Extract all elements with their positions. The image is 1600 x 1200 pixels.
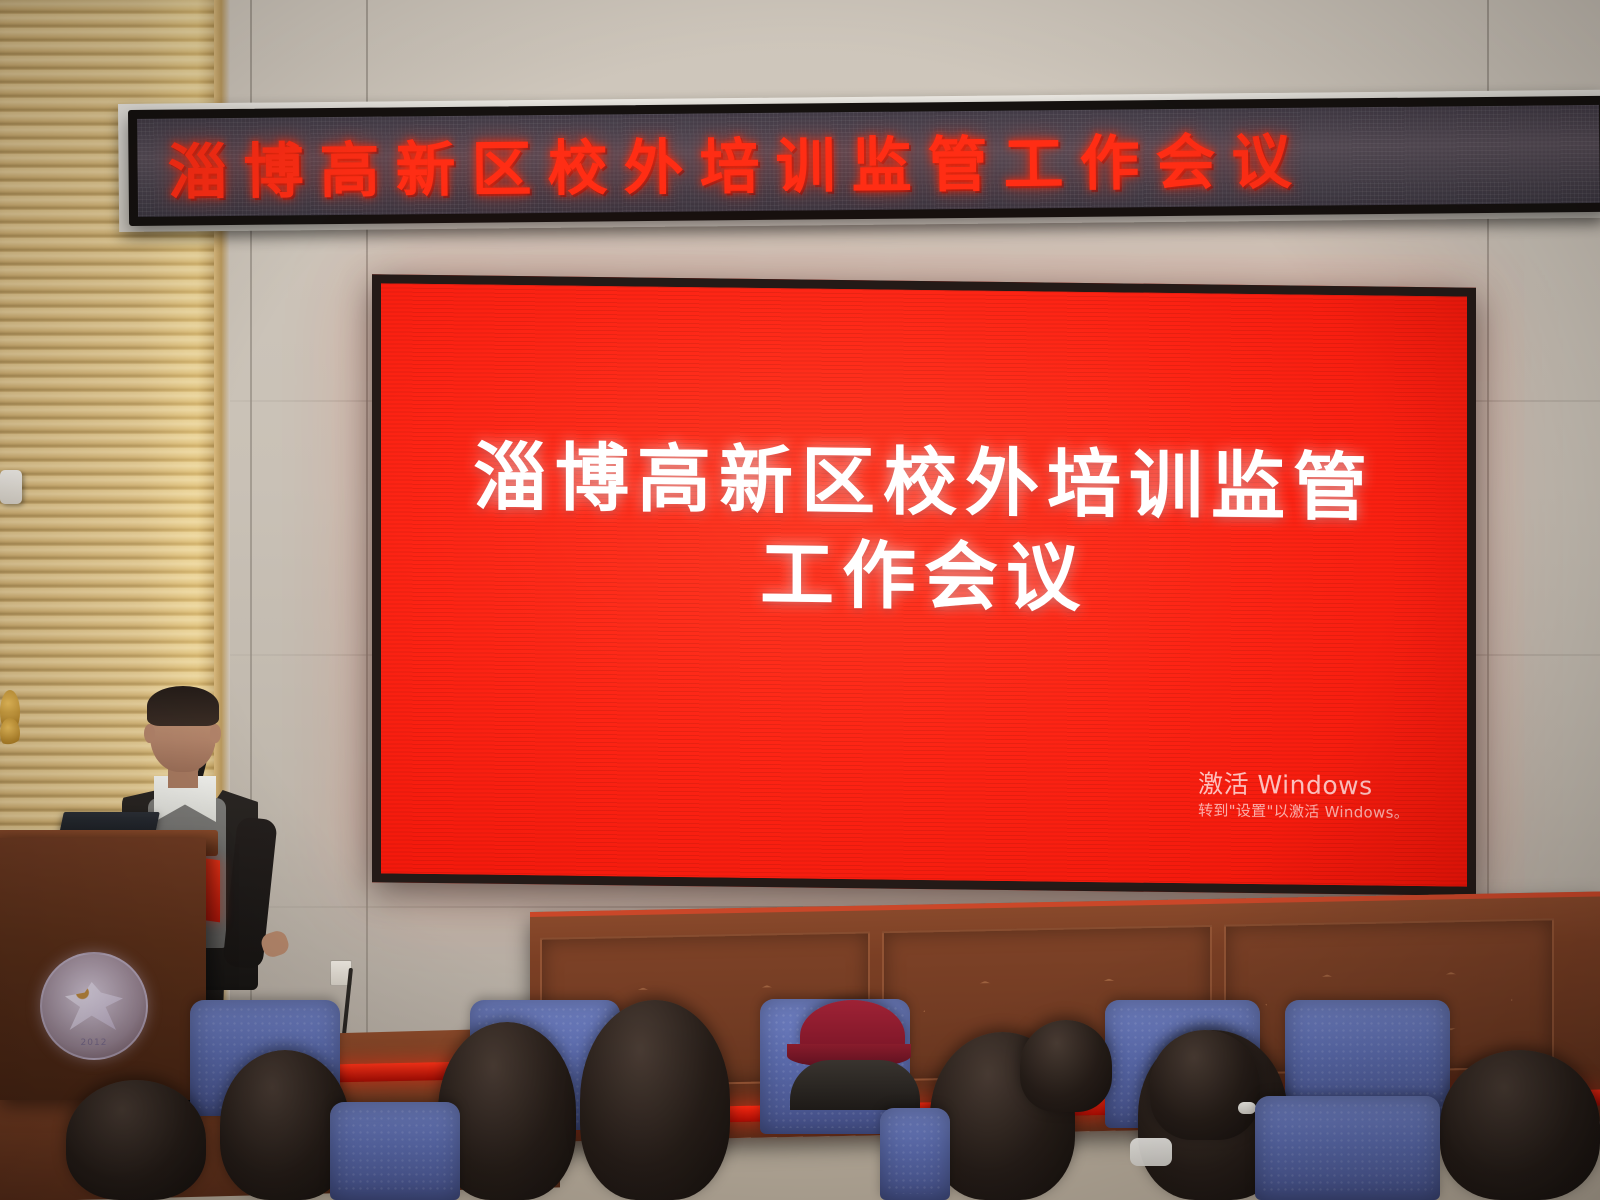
crest-dove-icon — [65, 982, 123, 1030]
hair-tie-icon — [1238, 1102, 1256, 1114]
audience-chair — [330, 1102, 460, 1200]
presenter-ear — [210, 724, 221, 743]
gold-ornament-icon — [0, 718, 20, 748]
watermark-line-1: 激活 Windows — [1198, 769, 1409, 802]
led-marquee-icon: 淄博高新区校外培训监管工作会议 — [128, 96, 1600, 226]
presenter-hair — [147, 686, 219, 726]
windows-activation-watermark: 激活 Windows 转到"设置"以激活 Windows。 — [1198, 769, 1409, 824]
led-banner-text: 淄博高新区校外培训监管工作会议 — [167, 110, 1600, 211]
audience-head — [580, 1000, 730, 1200]
audience-head — [1020, 1020, 1112, 1112]
screen-title-line-2: 工作会议 — [381, 522, 1467, 635]
wall-light-fixture-icon — [0, 470, 22, 504]
audience-shoulders — [790, 1060, 920, 1110]
face-mask-icon — [1130, 1138, 1172, 1166]
audience-head — [1150, 1030, 1260, 1140]
audience-chair — [1255, 1096, 1440, 1200]
watermark-line-2: 转到"设置"以激活 Windows。 — [1198, 799, 1409, 824]
screen-title: 淄博高新区校外培训监管 工作会议 — [381, 431, 1467, 634]
crest-year: 2012 — [42, 1038, 146, 1048]
audience-chair — [880, 1108, 950, 1200]
audience-head — [66, 1080, 206, 1200]
main-led-screen: 淄博高新区校外培训监管 工作会议 激活 Windows 转到"设置"以激活 Wi… — [372, 274, 1476, 895]
screen-title-line-1: 淄博高新区校外培训监管 — [381, 431, 1467, 535]
conference-photo: 淄博高新区校外培训监管工作会议 淄博高新区校外培训监管 工作会议 激活 Wind… — [0, 0, 1600, 1200]
presenter-ear — [144, 724, 155, 743]
audience-head — [1440, 1050, 1600, 1200]
school-crest-icon: 2012 — [40, 952, 148, 1060]
